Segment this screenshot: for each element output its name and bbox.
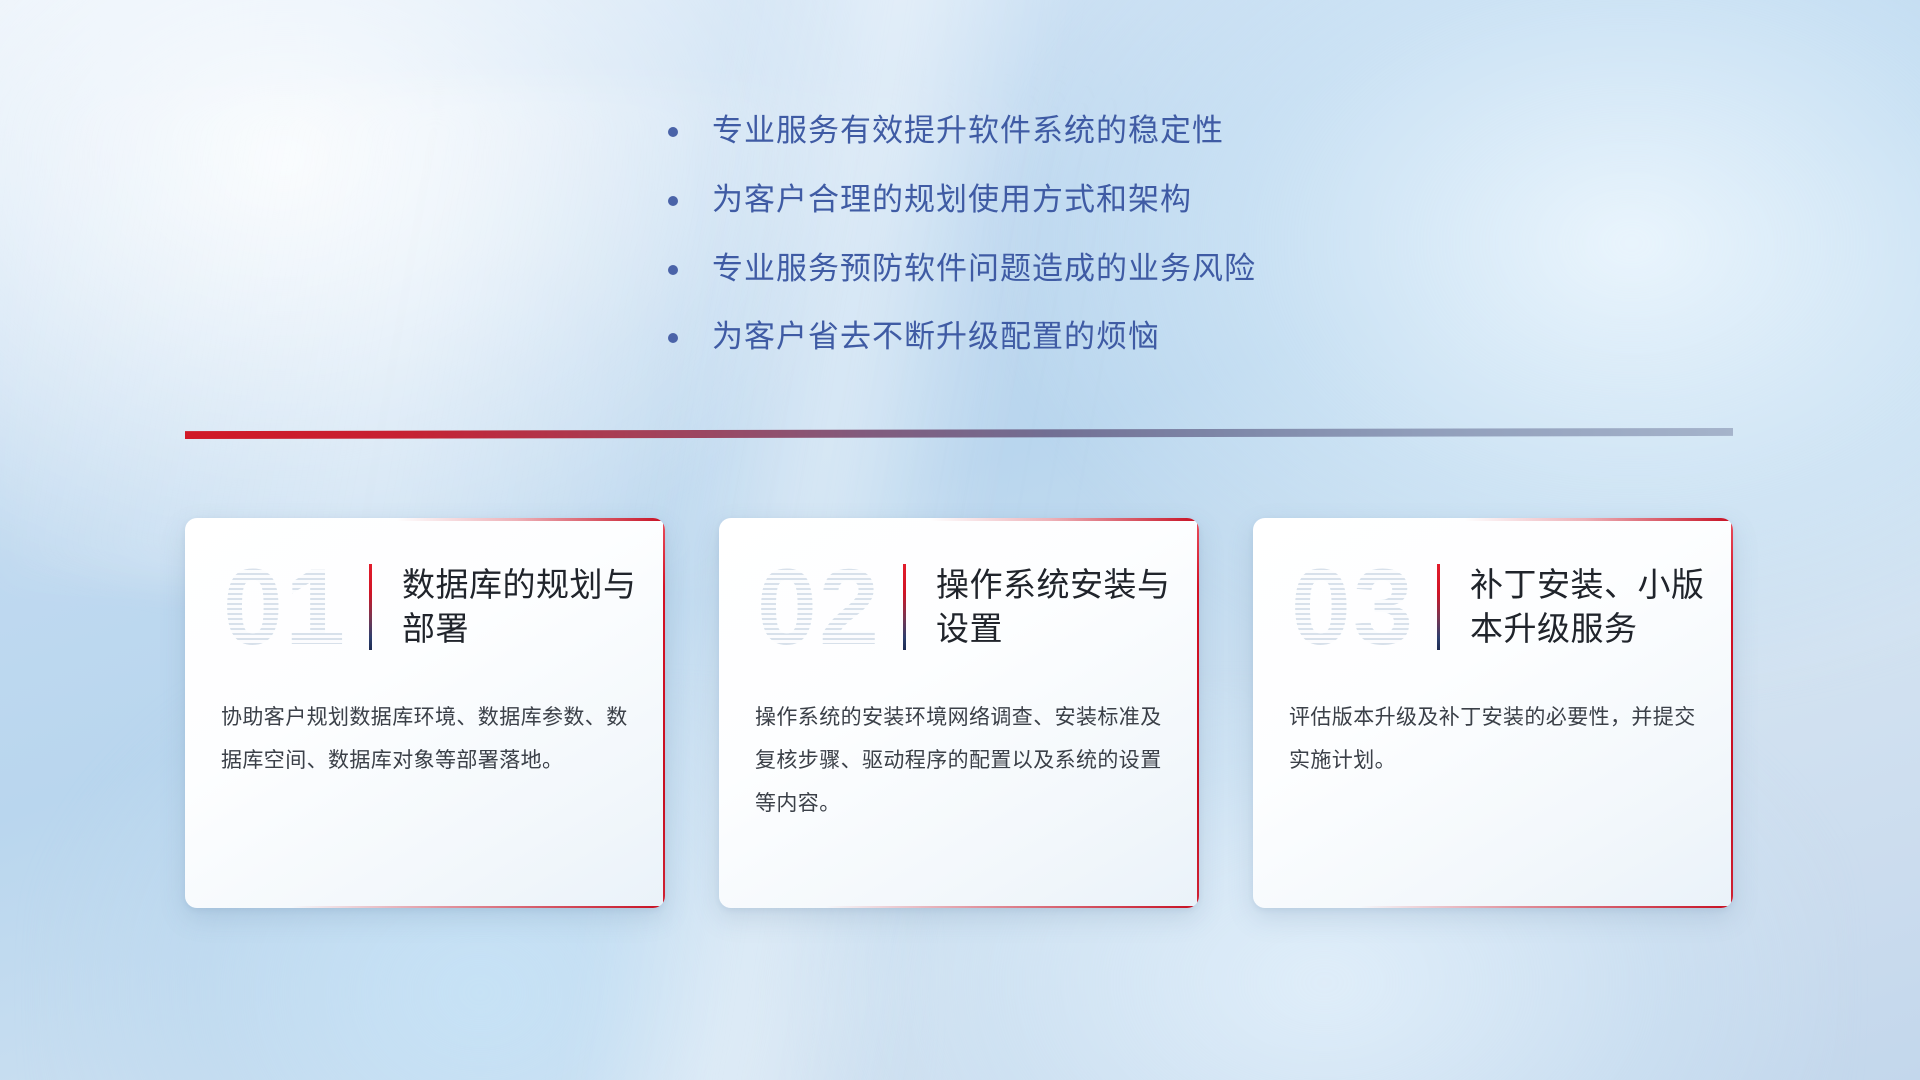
card-header: 01 数据库的规划与部署 bbox=[185, 518, 665, 696]
card-body-text: 评估版本升级及补丁安装的必要性，并提交实施计划。 bbox=[1253, 696, 1733, 782]
card-number-watermark: 03 bbox=[1269, 553, 1437, 661]
bullet-text: 专业服务预防软件问题造成的业务风险 bbox=[712, 250, 1256, 289]
bullet-dot-icon bbox=[668, 265, 678, 275]
card-title: 操作系统安装与设置 bbox=[936, 563, 1199, 650]
list-item: 为客户合理的规划使用方式和架构 bbox=[668, 181, 1568, 220]
card-accent-bottom bbox=[291, 906, 665, 909]
bullet-dot-icon bbox=[668, 196, 678, 206]
list-item: 为客户省去不断升级配置的烦恼 bbox=[668, 318, 1568, 357]
bullet-text: 为客户省去不断升级配置的烦恼 bbox=[712, 318, 1160, 357]
card-body-text: 操作系统的安装环境网络调查、安装标准及复核步骤、驱动程序的配置以及系统的设置等内… bbox=[719, 696, 1199, 825]
list-item: 专业服务有效提升软件系统的稳定性 bbox=[668, 112, 1568, 151]
slide-root: 专业服务有效提升软件系统的稳定性 为客户合理的规划使用方式和架构 专业服务预防软… bbox=[0, 0, 1920, 1080]
card-header: 02 操作系统安装与设置 bbox=[719, 518, 1199, 696]
section-divider-gradient bbox=[185, 428, 1733, 439]
list-item: 专业服务预防软件问题造成的业务风险 bbox=[668, 250, 1568, 289]
card-body-text: 协助客户规划数据库环境、数据库参数、数据库空间、数据库对象等部署落地。 bbox=[185, 696, 665, 782]
card-divider-bar bbox=[369, 564, 372, 650]
benefits-bullet-list: 专业服务有效提升软件系统的稳定性 为客户合理的规划使用方式和架构 专业服务预防软… bbox=[668, 112, 1568, 387]
service-card[interactable]: 02 操作系统安装与设置 操作系统的安装环境网络调查、安装标准及复核步骤、驱动程… bbox=[719, 518, 1199, 908]
card-number-watermark: 02 bbox=[735, 553, 903, 661]
section-divider bbox=[185, 428, 1733, 439]
card-title: 补丁安装、小版本升级服务 bbox=[1470, 563, 1733, 650]
service-card[interactable]: 01 数据库的规划与部署 协助客户规划数据库环境、数据库参数、数据库空间、数据库… bbox=[185, 518, 665, 908]
card-title: 数据库的规划与部署 bbox=[402, 563, 665, 650]
card-accent-bottom bbox=[825, 906, 1199, 909]
card-divider-bar bbox=[903, 564, 906, 650]
service-cards-row: 01 数据库的规划与部署 协助客户规划数据库环境、数据库参数、数据库空间、数据库… bbox=[185, 518, 1733, 908]
card-number-watermark: 01 bbox=[201, 553, 369, 661]
bullet-text: 专业服务有效提升软件系统的稳定性 bbox=[712, 112, 1224, 151]
bullet-dot-icon bbox=[668, 333, 678, 343]
bullet-text: 为客户合理的规划使用方式和架构 bbox=[712, 181, 1192, 220]
card-divider-bar bbox=[1437, 564, 1440, 650]
card-accent-bottom bbox=[1359, 906, 1733, 909]
card-header: 03 补丁安装、小版本升级服务 bbox=[1253, 518, 1733, 696]
bullet-dot-icon bbox=[668, 127, 678, 137]
service-card[interactable]: 03 补丁安装、小版本升级服务 评估版本升级及补丁安装的必要性，并提交实施计划。 bbox=[1253, 518, 1733, 908]
